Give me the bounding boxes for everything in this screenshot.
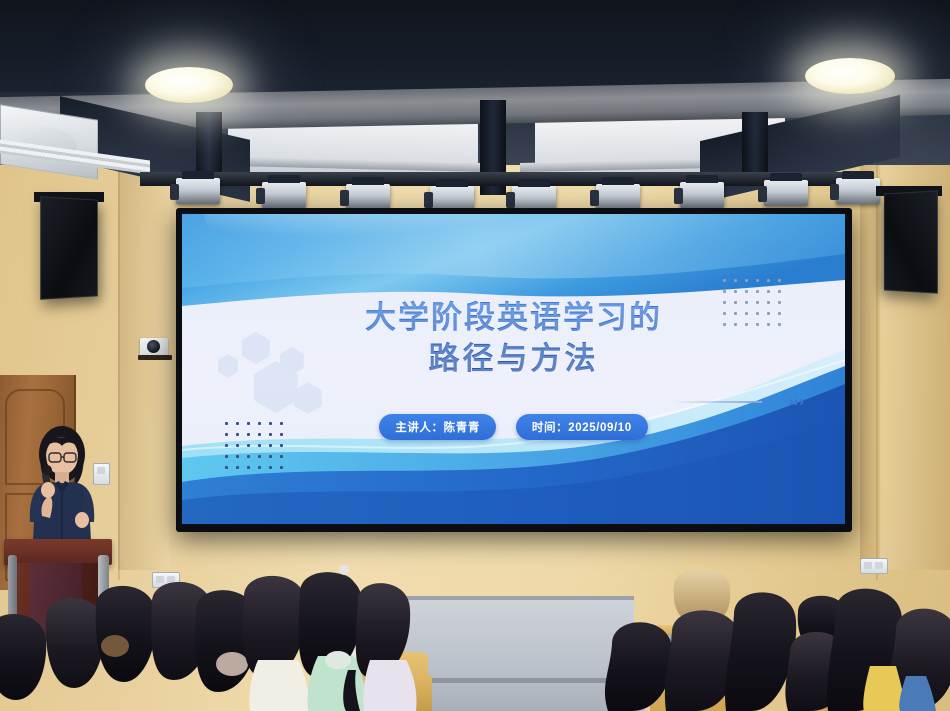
wall-speaker-left — [40, 196, 98, 300]
audience-row-front — [0, 572, 950, 711]
slide-title-line1: 大学阶段英语学习的 — [182, 298, 845, 339]
slide-title-line2: 路径与方法 — [182, 339, 845, 380]
chevron-arrows-icon: ››› — [789, 394, 804, 409]
accent-line — [673, 401, 763, 403]
stage-light — [346, 184, 390, 210]
ptz-camera — [138, 338, 172, 362]
lecture-hall-photo: 大学阶段英语学习的 路径与方法 ››› 主讲人：陈青青 时间：2025/09/1… — [0, 0, 950, 711]
stage-light — [596, 184, 640, 210]
stage-light — [836, 178, 880, 204]
wall-seam — [876, 150, 878, 580]
stage-light — [764, 180, 808, 206]
camera-mount — [138, 355, 172, 360]
projection-screen[interactable]: 大学阶段英语学习的 路径与方法 ››› 主讲人：陈青青 时间：2025/09/1… — [176, 208, 852, 532]
stage-light — [262, 182, 306, 208]
lighting-truss — [140, 172, 870, 186]
speaker-badge: 主讲人：陈青青 — [379, 414, 496, 440]
presentation-slide: 大学阶段英语学习的 路径与方法 ››› 主讲人：陈青青 时间：2025/09/1… — [182, 214, 845, 524]
slide-meta-badges: 主讲人：陈青青 时间：2025/09/10 — [182, 414, 845, 440]
slide-title: 大学阶段英语学习的 路径与方法 — [182, 298, 845, 380]
ceiling-light-right — [805, 58, 895, 94]
audience — [0, 548, 950, 711]
date-badge: 时间：2025/09/10 — [516, 414, 648, 440]
stage-light — [680, 182, 724, 208]
wall-speaker-right — [884, 190, 938, 293]
ceiling-light-left — [145, 67, 233, 103]
camera-lens-icon — [147, 340, 160, 353]
stage-light — [176, 178, 220, 204]
